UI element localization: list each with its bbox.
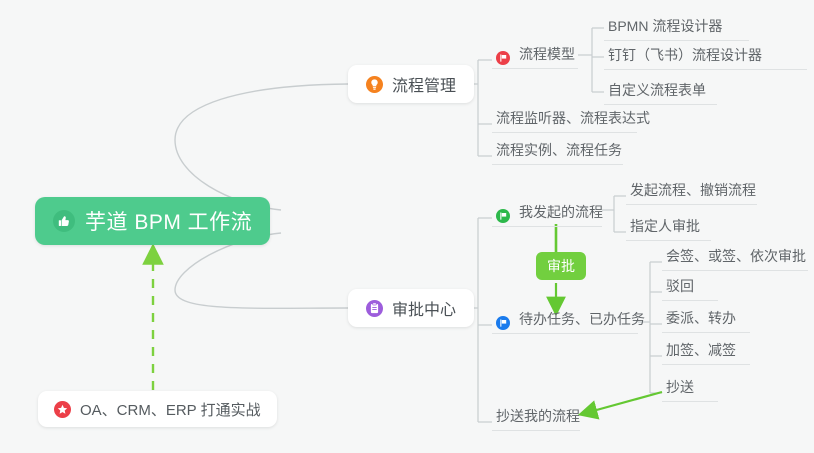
node-label-process-model: 流程模型	[519, 44, 575, 68]
leaf-label-process-instance-task: 流程实例、流程任务	[496, 140, 622, 164]
branch-approval-center[interactable]: 审批中心	[348, 289, 474, 327]
leaf-label-carbon-copy: 抄送	[666, 377, 694, 401]
connector-root-to-process-management	[175, 84, 348, 210]
leaf-label-add-remove-sign: 加签、减签	[666, 340, 736, 364]
root-node[interactable]: 芋道 BPM 工作流	[35, 197, 270, 245]
leaf-label-cc-to-me-process: 抄送我的流程	[496, 406, 580, 430]
leaf-label-assignee-approval: 指定人审批	[630, 216, 700, 240]
leaf-label-countersign-orsign-sequential: 会签、或签、依次审批	[666, 246, 806, 270]
leaf-bpmn-designer[interactable]: BPMN 流程设计器	[604, 13, 749, 41]
branch-label-process-management: 流程管理	[392, 72, 456, 96]
leaf-label-reject: 驳回	[666, 276, 694, 300]
flag-icon	[496, 51, 510, 65]
leaf-custom-process-form[interactable]: 自定义流程表单	[604, 77, 717, 105]
star-icon	[54, 401, 71, 418]
thumbs-up-icon	[53, 210, 75, 232]
footer-note-label: OA、CRM、ERP 打通实战	[80, 399, 261, 420]
node-my-initiated-process[interactable]: 我发起的流程	[492, 199, 602, 227]
node-label-todo-done-tasks: 待办任务、已办任务	[519, 309, 645, 333]
node-label-my-initiated-process: 我发起的流程	[519, 202, 603, 226]
node-process-model[interactable]: 流程模型	[492, 41, 578, 69]
lightbulb-icon	[366, 76, 383, 93]
leaf-label-process-listener-expression: 流程监听器、流程表达式	[496, 108, 650, 132]
leaf-reject[interactable]: 驳回	[662, 273, 718, 301]
flag-icon	[496, 316, 510, 330]
leaf-label-bpmn-designer: BPMN 流程设计器	[608, 16, 722, 40]
leaf-label-custom-process-form: 自定义流程表单	[608, 80, 706, 104]
leaf-label-delegate-transfer: 委派、转办	[666, 308, 736, 332]
leaf-label-start-cancel-process: 发起流程、撤销流程	[630, 180, 756, 204]
leaf-countersign-orsign-sequential[interactable]: 会签、或签、依次审批	[662, 243, 808, 271]
leaf-cc-to-me-process[interactable]: 抄送我的流程	[492, 403, 580, 431]
approval-badge[interactable]: 审批	[536, 252, 586, 280]
branch-process-management[interactable]: 流程管理	[348, 65, 474, 103]
leaf-start-cancel-process[interactable]: 发起流程、撤销流程	[626, 177, 757, 205]
footer-note-node[interactable]: OA、CRM、ERP 打通实战	[38, 391, 277, 427]
leaf-delegate-transfer[interactable]: 委派、转办	[662, 305, 750, 333]
flag-icon	[496, 209, 510, 223]
leaf-dingtalk-feishu-designer[interactable]: 钉钉（飞书）流程设计器	[604, 42, 807, 70]
leaf-process-instance-task[interactable]: 流程实例、流程任务	[492, 137, 623, 165]
arrow-cc-to-ccprocess	[582, 392, 662, 414]
root-label: 芋道 BPM 工作流	[85, 206, 252, 236]
branch-label-approval-center: 审批中心	[392, 296, 456, 320]
clipboard-icon	[366, 300, 383, 317]
leaf-assignee-approval[interactable]: 指定人审批	[626, 213, 711, 241]
node-todo-done-tasks[interactable]: 待办任务、已办任务	[492, 306, 638, 334]
leaf-carbon-copy[interactable]: 抄送	[662, 374, 718, 402]
mindmap-canvas: 芋道 BPM 工作流 流程管理 流程模型 BPMN 流程设计器 钉钉（飞书	[0, 0, 814, 453]
leaf-add-remove-sign[interactable]: 加签、减签	[662, 337, 750, 365]
leaf-label-dingtalk-feishu-designer: 钉钉（飞书）流程设计器	[608, 45, 762, 69]
approval-badge-label: 审批	[547, 256, 575, 276]
leaf-process-listener-expression[interactable]: 流程监听器、流程表达式	[492, 105, 637, 133]
